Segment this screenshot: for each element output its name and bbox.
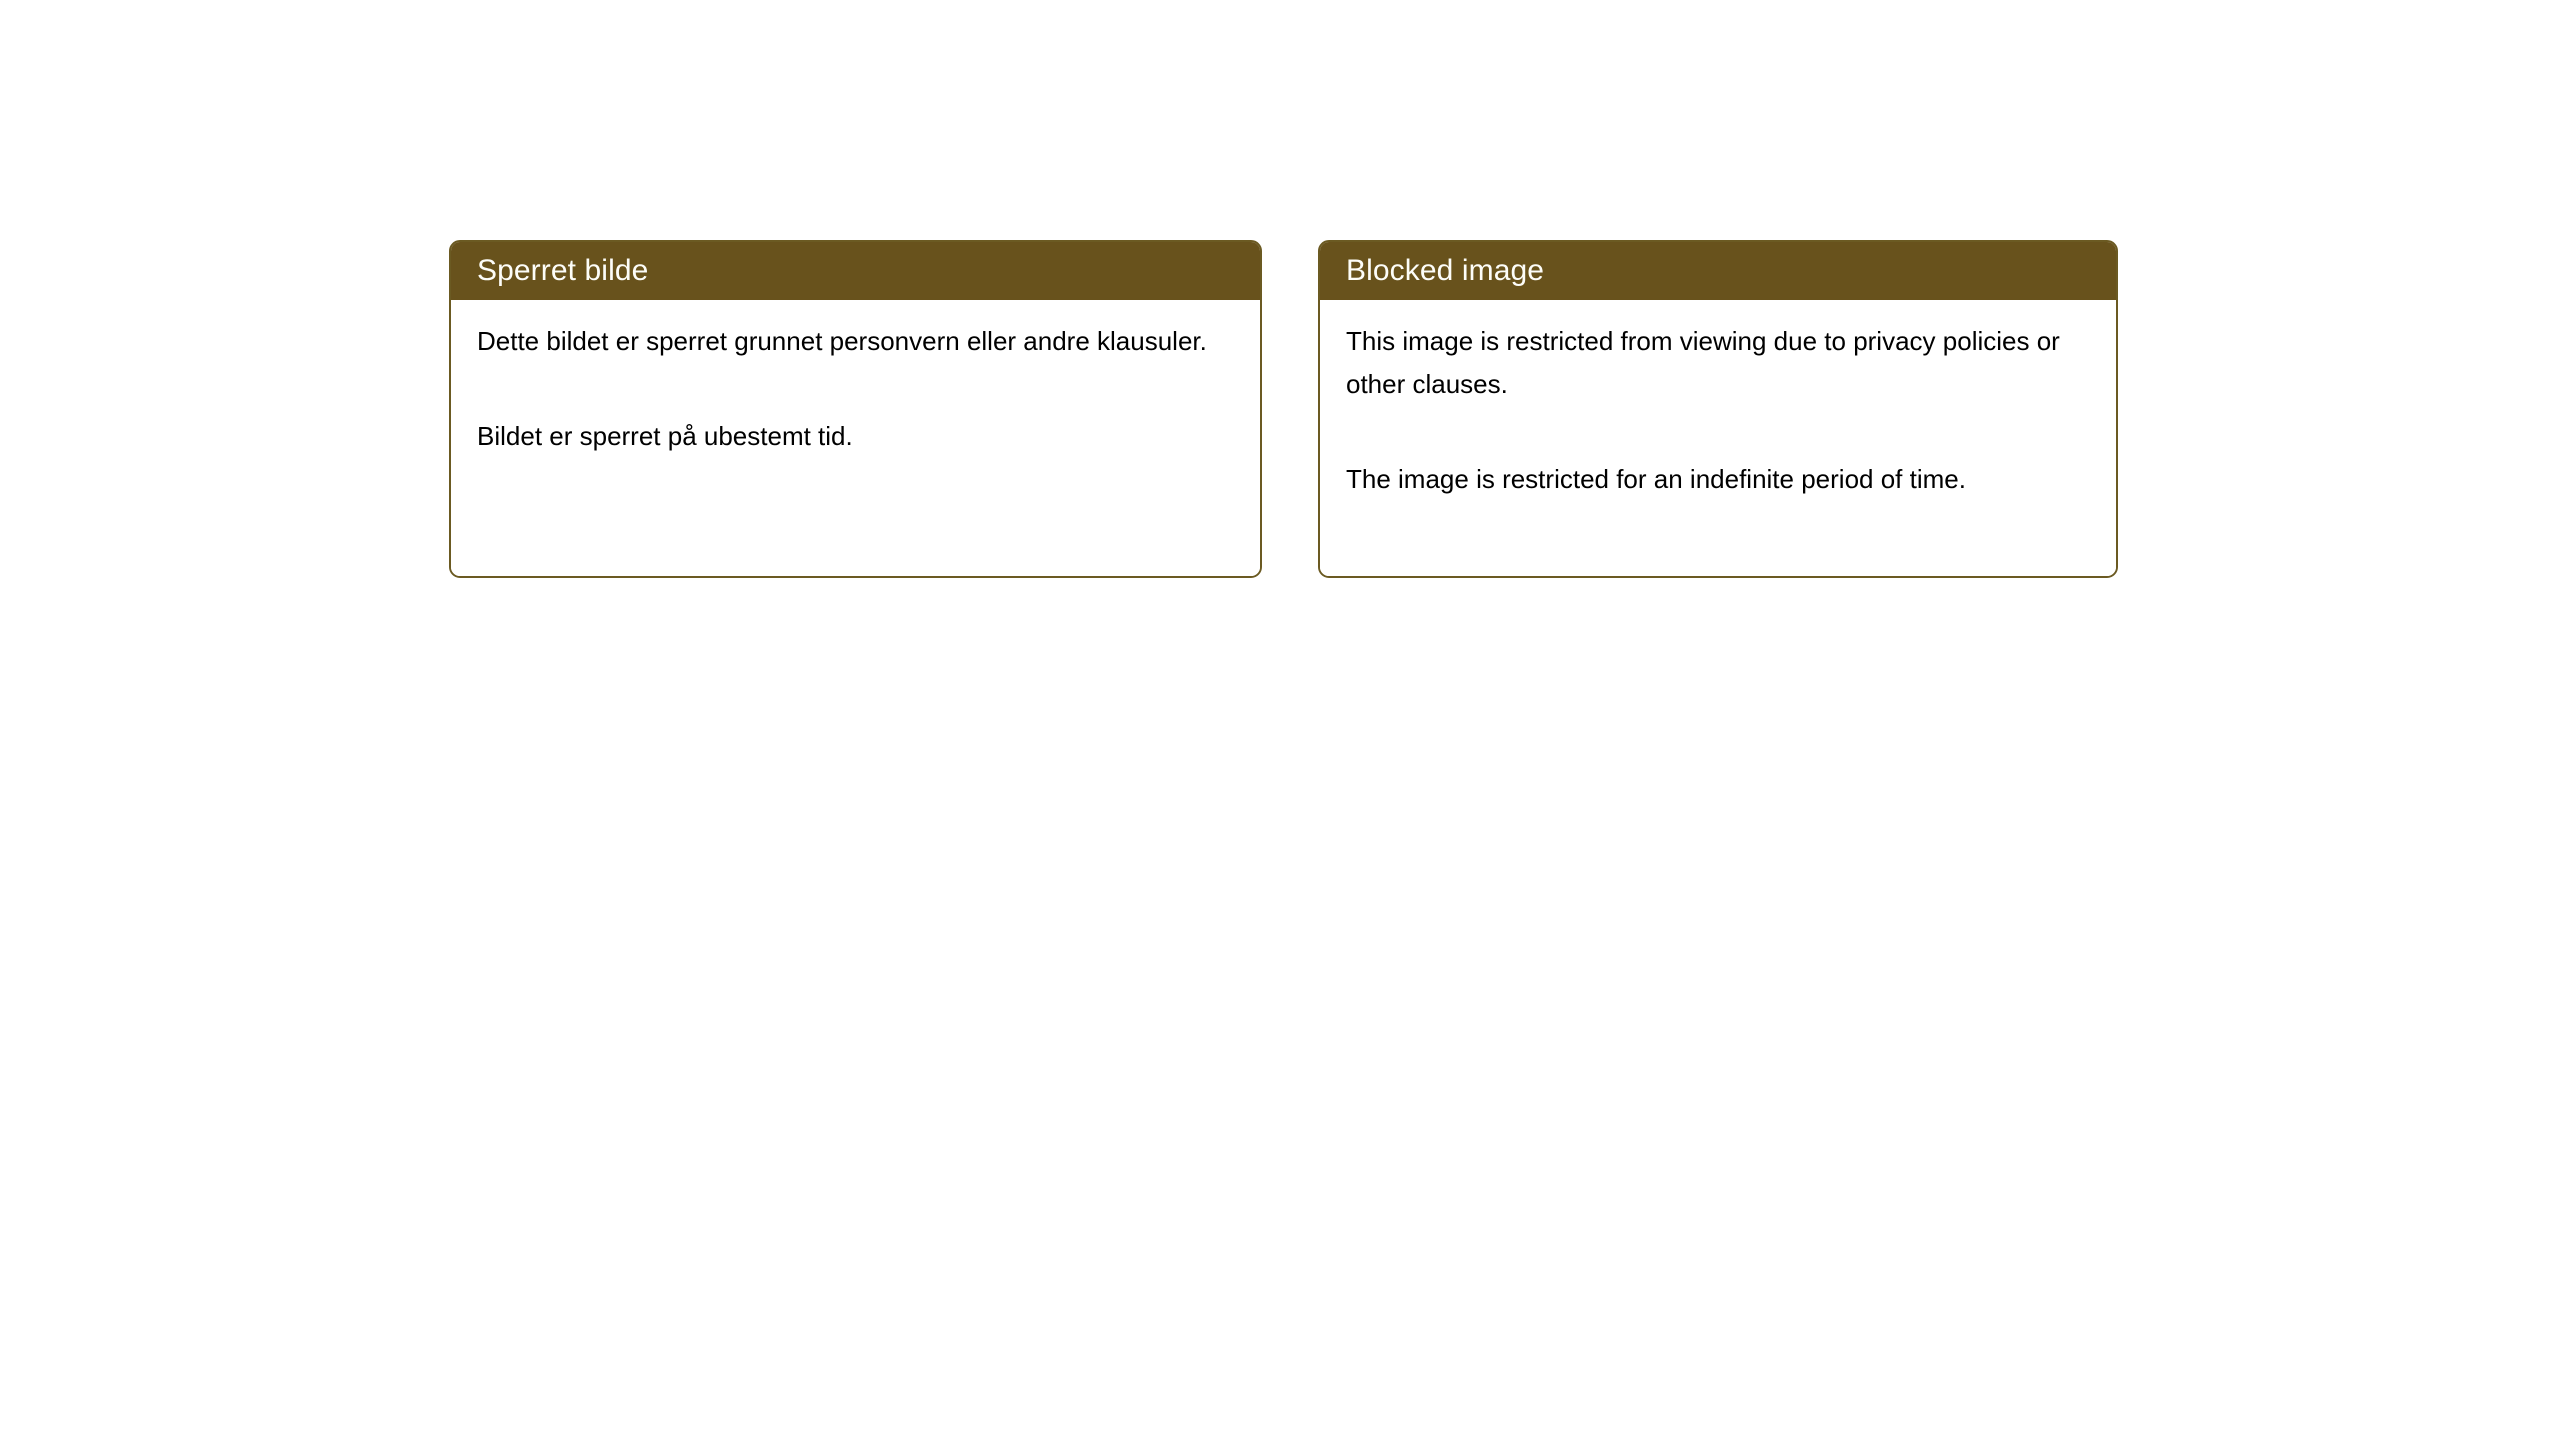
blocked-image-panel-english: Blocked image This image is restricted f… xyxy=(1318,240,2118,578)
blocked-image-notice-area: Sperret bilde Dette bildet er sperret gr… xyxy=(449,240,2118,578)
panel-title-norwegian: Sperret bilde xyxy=(477,254,648,288)
panel-paragraph-restriction-duration-norwegian: Bildet er sperret på ubestemt tid. xyxy=(477,415,1234,458)
panel-paragraph-restriction-duration-english: The image is restricted for an indefinit… xyxy=(1346,458,2090,501)
blocked-image-panel-norwegian: Sperret bilde Dette bildet er sperret gr… xyxy=(449,240,1262,578)
panel-title-english: Blocked image xyxy=(1346,254,1544,288)
panel-body-english: This image is restricted from viewing du… xyxy=(1320,300,2116,576)
panel-paragraph-restriction-reason-norwegian: Dette bildet er sperret grunnet personve… xyxy=(477,320,1234,363)
panel-header-norwegian: Sperret bilde xyxy=(451,242,1260,300)
panel-body-norwegian: Dette bildet er sperret grunnet personve… xyxy=(451,300,1260,576)
panel-paragraph-restriction-reason-english: This image is restricted from viewing du… xyxy=(1346,320,2090,406)
panel-header-english: Blocked image xyxy=(1320,242,2116,300)
